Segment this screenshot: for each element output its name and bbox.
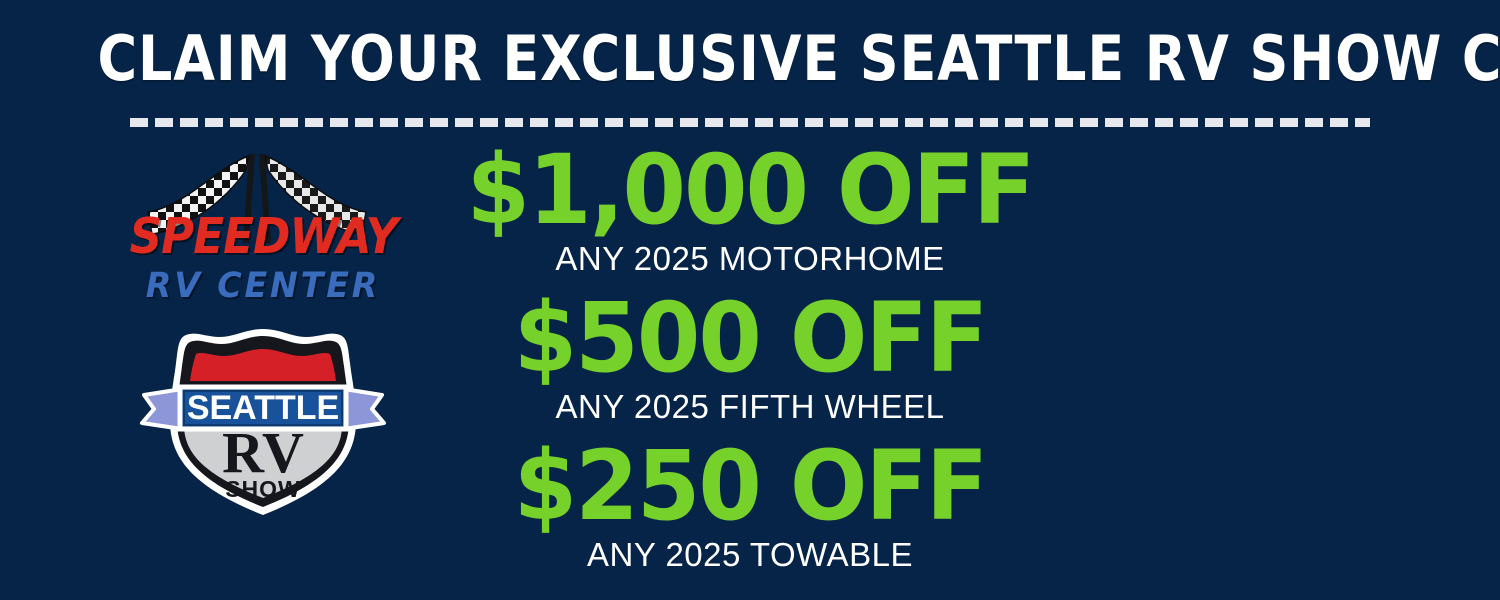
offer-amount: $1,000 OFF — [456, 140, 1045, 240]
offers-column: $1,000 OFF ANY 2025 MOTORHOME $500 OFF A… — [440, 140, 1060, 600]
speedway-subtitle: RV CENTER — [125, 266, 401, 306]
speedway-rv-center-logo: SPEEDWAY RV CENTER — [118, 148, 408, 318]
offer-amount: $250 OFF — [456, 436, 1045, 536]
offer-amount: $500 OFF — [456, 288, 1045, 388]
coupon-banner: CLAIM YOUR EXCLUSIVE SEATTLE RV SHOW COU… — [0, 0, 1500, 600]
speedway-wordmark: SPEEDWAY — [130, 210, 397, 264]
logo-column: SPEEDWAY RV CENTER SEATTLE — [110, 140, 420, 600]
seattle-rv-show-logo: SEATTLE RV SHOW — [138, 325, 388, 520]
page-title: CLAIM YOUR EXCLUSIVE SEATTLE RV SHOW COU… — [98, 22, 1403, 96]
banner-body: SPEEDWAY RV CENTER SEATTLE — [0, 140, 1500, 600]
offer-item: $500 OFF ANY 2025 FIFTH WHEEL — [440, 288, 1060, 426]
offer-item: $250 OFF ANY 2025 TOWABLE — [440, 436, 1060, 574]
offer-item: $1,000 OFF ANY 2025 MOTORHOME — [440, 140, 1060, 278]
dashed-divider — [130, 118, 1370, 127]
shield-sub-text: SHOW — [225, 476, 301, 502]
